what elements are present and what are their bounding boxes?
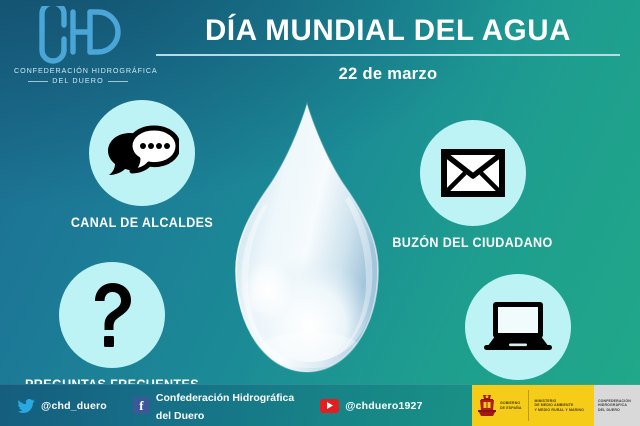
logo-line-2: DEL DUERO xyxy=(14,76,142,86)
laptop-trackpad xyxy=(509,344,527,347)
logo-line-1: CONFEDERACIÓN HIDROGRÁFICA xyxy=(14,66,142,76)
twitter-icon xyxy=(18,399,35,413)
laptop-icon xyxy=(482,299,554,355)
facebook-page-name: Confederación Hidrográfica del Duero xyxy=(156,388,294,424)
gobierno-de-espana-block: GOBIERNO DE ESPAÑA MINISTERIO DE MEDIO A… xyxy=(472,385,594,426)
youtube-icon xyxy=(320,399,339,413)
chd-grey-text: CONFEDERACIÓN HIDROGRÁFICA DEL DUERO xyxy=(598,399,631,413)
chd-logo-mark xyxy=(34,6,122,66)
ministerio-line-3: Y MEDIO RURAL Y MARINO xyxy=(535,408,585,413)
logo-rule-left xyxy=(28,81,48,82)
social-youtube[interactable]: @chduero1927 xyxy=(320,399,422,413)
social-links: @chd_duero f Confederación Hidrográfica … xyxy=(18,385,423,426)
icon-circle xyxy=(420,120,526,226)
chd-logo: CONFEDERACIÓN HIDROGRÁFICA DEL DUERO xyxy=(14,6,142,98)
feature-canal-de-alcaldes[interactable]: CANAL DE ALCALDES xyxy=(42,100,242,230)
icon-circle xyxy=(465,274,571,380)
drop-specular-highlight xyxy=(243,259,293,321)
feature-buzon-del-ciudadano[interactable]: BUZÓN DEL CIUDADANO xyxy=(330,120,615,250)
poster-canvas: CONFEDERACIÓN HIDROGRÁFICA DEL DUERO DÍA… xyxy=(0,0,640,426)
title-block: DÍA MUNDIAL DEL AGUA 22 de marzo xyxy=(150,14,626,84)
title-divider xyxy=(156,54,620,56)
gobierno-text: GOBIERNO DE ESPAÑA xyxy=(500,401,522,410)
feature-preguntas-frecuentes[interactable]: PREGUNTAS FRECUENTES xyxy=(6,262,218,392)
ministerio-text: MINISTERIO DE MEDIO AMBIENTE Y MEDIO RUR… xyxy=(535,399,585,413)
chd-grey-block: CONFEDERACIÓN HIDROGRÁFICA DEL DUERO xyxy=(594,385,640,426)
feature-label: CANAL DE ALCALDES xyxy=(49,215,235,230)
gobierno-line-2: DE ESPAÑA xyxy=(500,406,522,411)
chd-grey-line-3: DEL DUERO xyxy=(598,408,631,413)
twitter-handle: @chd_duero xyxy=(41,400,107,412)
government-logos: GOBIERNO DE ESPAÑA MINISTERIO DE MEDIO A… xyxy=(472,385,640,426)
question-mark-dot xyxy=(104,336,114,347)
social-facebook[interactable]: f Confederación Hidrográfica del Duero xyxy=(133,388,294,424)
logo-rule-right xyxy=(108,81,128,82)
gobierno-line-1: GOBIERNO xyxy=(500,401,522,406)
feature-label: BUZÓN DEL CIUDADANO xyxy=(340,235,605,250)
youtube-play-triangle xyxy=(327,402,333,409)
facebook-icon: f xyxy=(133,397,150,414)
spain-coat-of-arms-icon xyxy=(477,394,497,417)
icon-circle xyxy=(59,262,165,368)
envelope-icon xyxy=(441,149,505,197)
facebook-name-line-1: Confederación Hidrográfica xyxy=(156,392,294,404)
laptop-screen xyxy=(498,307,538,333)
logo-line-2-text: DEL DUERO xyxy=(52,76,104,85)
speech-bubble-outlined xyxy=(130,128,178,171)
drop-bottom-caustic xyxy=(258,332,362,368)
youtube-handle: @chduero1927 xyxy=(345,400,422,412)
page-title: DÍA MUNDIAL DEL AGUA xyxy=(150,14,626,48)
question-mark-hook xyxy=(95,283,131,330)
gov-divider xyxy=(528,390,529,421)
icon-circle xyxy=(89,100,195,206)
footer-bar: @chd_duero f Confederación Hidrográfica … xyxy=(0,384,640,426)
social-twitter[interactable]: @chd_duero xyxy=(18,399,107,413)
speech-bubbles-icon xyxy=(105,125,179,181)
facebook-name-line-2: del Duero xyxy=(156,410,204,422)
page-subtitle: 22 de marzo xyxy=(150,65,626,84)
question-mark-icon xyxy=(86,281,138,349)
